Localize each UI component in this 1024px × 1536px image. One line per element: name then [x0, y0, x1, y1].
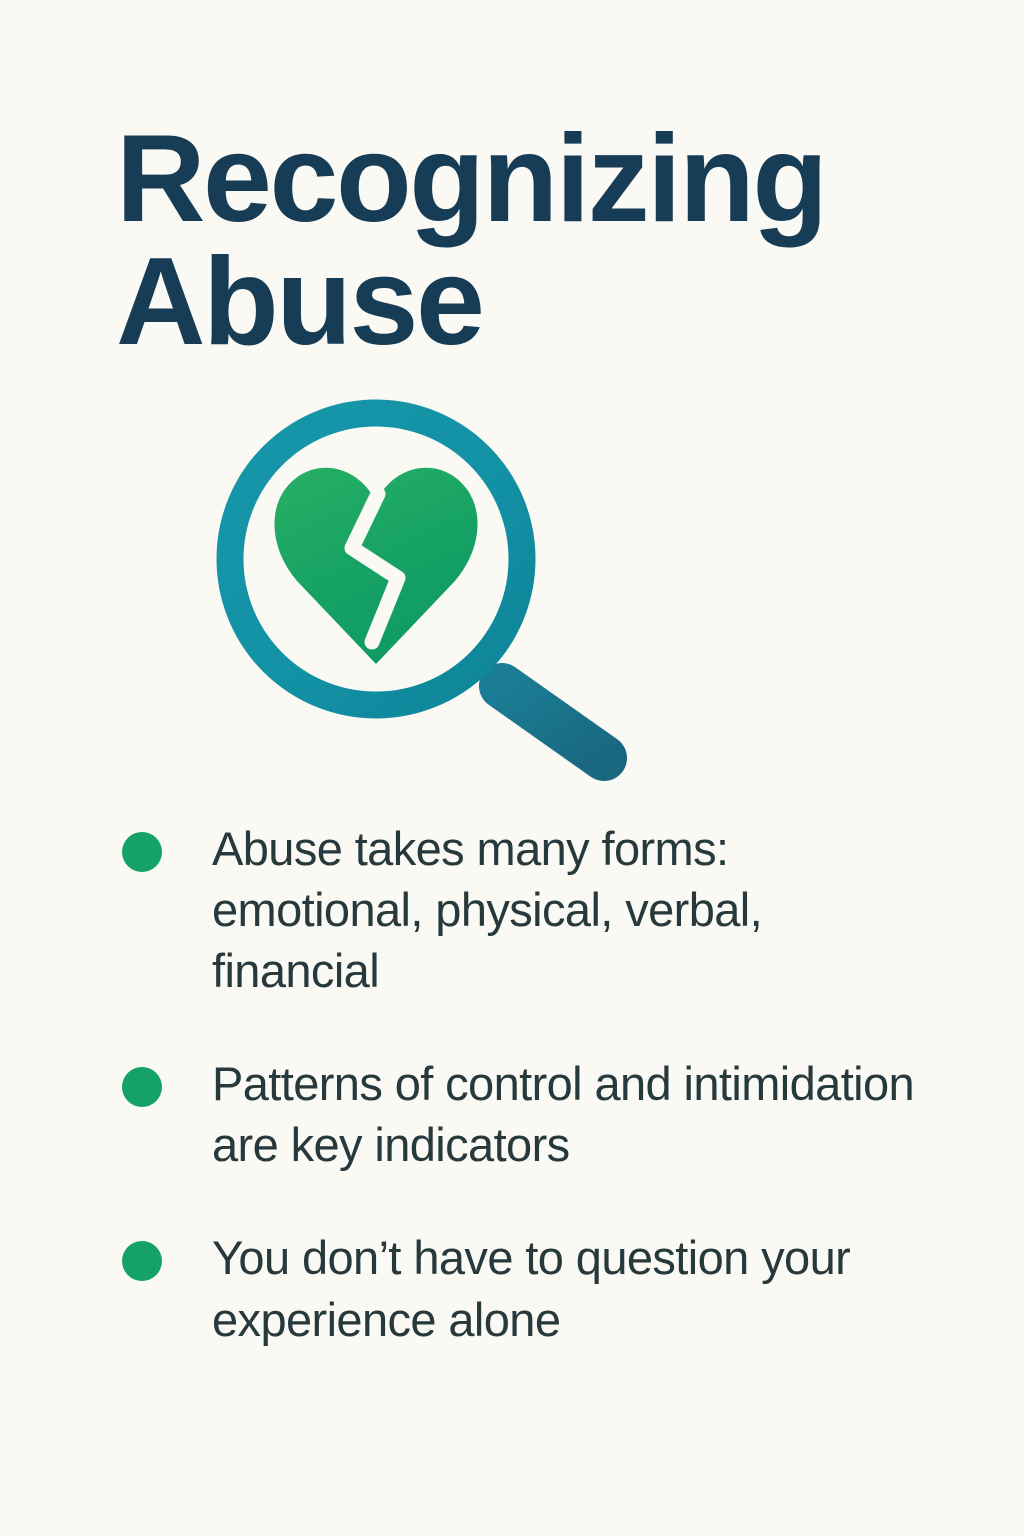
list-item-text: Patterns of control and intimidation are…: [212, 1053, 916, 1175]
bullet-dot-wrap: [116, 1227, 212, 1295]
page-title: Recognizing Abuse: [116, 118, 936, 364]
list-item: Patterns of control and intimidation are…: [116, 1053, 916, 1175]
key-points-list: Abuse takes many forms: emotional, physi…: [116, 818, 916, 1350]
list-item: You don’t have to question your experien…: [116, 1227, 916, 1349]
magnifying-glass-broken-heart-icon: [206, 386, 646, 786]
bullet-dot-icon: [122, 832, 162, 872]
bullet-dot-icon: [122, 1067, 162, 1107]
title-block: Recognizing Abuse: [116, 118, 936, 364]
bullet-dot-wrap: [116, 1053, 212, 1121]
list-item-text: You don’t have to question your experien…: [212, 1227, 916, 1349]
poster-canvas: Recognizing Abuse: [0, 0, 1024, 1536]
magnifier-handle-shape: [502, 686, 604, 758]
bullet-dot-icon: [122, 1241, 162, 1281]
list-item: Abuse takes many forms: emotional, physi…: [116, 818, 916, 1001]
bullet-dot-wrap: [116, 818, 212, 886]
broken-heart-shape: [274, 468, 477, 664]
list-item-text: Abuse takes many forms: emotional, physi…: [212, 818, 916, 1001]
